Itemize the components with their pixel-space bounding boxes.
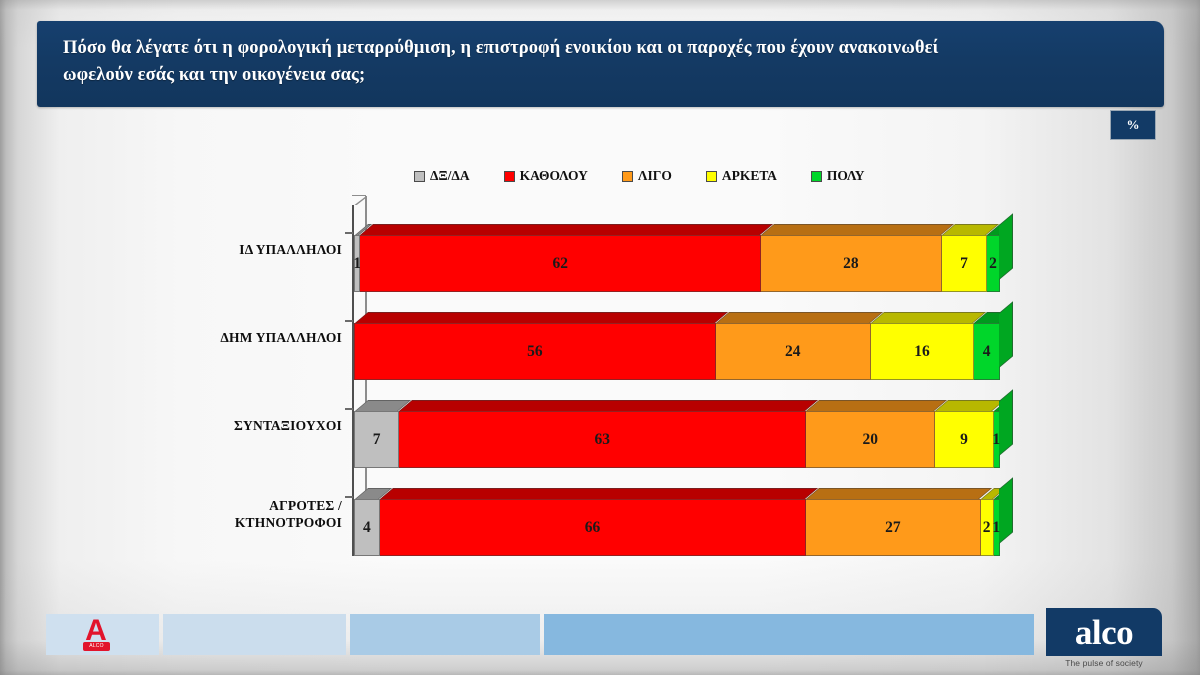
alco-a-mark-icon: A ALCO (78, 618, 114, 652)
bar-segment-1-2[interactable]: 24 (716, 323, 871, 380)
bar-segment-0-1[interactable]: 62 (360, 235, 761, 292)
bar-segment-1-4[interactable]: 4 (974, 323, 1000, 380)
bar-segment-topface (360, 224, 773, 235)
bar-segment-sideface (999, 301, 1013, 368)
legend-swatch-icon (811, 171, 822, 182)
footer: A ALCO (0, 608, 1200, 675)
title-banner: Πόσο θα λέγατε ότι η φορολογική μεταρρύθ… (37, 21, 1164, 107)
bar-segment-3-4[interactable]: 1 (994, 499, 1000, 556)
legend-item-3[interactable]: ΑΡΚΕΤΑ (706, 168, 777, 184)
axis-depth-edge-icon (352, 195, 366, 205)
bar-value-label: 1 (992, 431, 1000, 449)
alco-tagline: The pulse of society (1046, 658, 1162, 668)
category-label-2: ΣΥΝΤΑΞΙΟΥΧΟΙ (112, 418, 342, 435)
category-label-3: ΑΓΡΟΤΕΣ /ΚΤΗΝΟΤΡΟΦΟΙ (112, 498, 342, 532)
legend-item-4[interactable]: ΠΟΛΥ (811, 168, 865, 184)
bar-segment-0-2[interactable]: 28 (761, 235, 942, 292)
bar-value-label: 7 (960, 255, 968, 273)
legend-label: ΔΞ/ΔΑ (430, 168, 470, 184)
category-label-1: ΔΗΜ ΥΠΑΛΛΗΛΟΙ (112, 330, 342, 347)
bar-value-label: 63 (594, 431, 610, 449)
legend-swatch-icon (622, 171, 633, 182)
bar-segment-topface (380, 488, 818, 499)
bar-segment-2-2[interactable]: 20 (806, 411, 935, 468)
percent-unit-badge: % (1110, 110, 1156, 140)
bar-value-label: 62 (552, 255, 568, 273)
legend-label: ΚΑΘΟΛΟΥ (520, 168, 588, 184)
axis-tick-3 (345, 496, 353, 498)
bar-segment-topface (355, 312, 728, 323)
bar-row-1[interactable]: 5624164 (354, 312, 1000, 380)
legend-swatch-icon (414, 171, 425, 182)
axis-tick-1 (345, 320, 353, 322)
bar-segment-topface (761, 224, 954, 235)
bar-segment-sideface (999, 213, 1013, 280)
bar-value-label: 66 (585, 519, 601, 537)
bar-segment-2-3[interactable]: 9 (935, 411, 993, 468)
bar-segment-sideface (999, 389, 1013, 456)
a-logo-glyph: A (78, 618, 114, 643)
legend-swatch-icon (706, 171, 717, 182)
bar-value-label: 56 (527, 343, 543, 361)
alco-wordmark: alco (1075, 615, 1133, 650)
page-title-line1: Πόσο θα λέγατε ότι η φορολογική μεταρρύθ… (63, 35, 1142, 62)
bar-row-3[interactable]: 4662721 (354, 488, 1000, 556)
bar-value-label: 7 (373, 431, 381, 449)
bar-segment-3-2[interactable]: 27 (806, 499, 980, 556)
legend-label: ΠΟΛΥ (827, 168, 865, 184)
category-axis-labels: ΙΔ ΥΠΑΛΛΗΛΟΙΔΗΜ ΥΠΑΛΛΗΛΟΙΣΥΝΤΑΞΙΟΥΧΟΙΑΓΡ… (110, 196, 342, 561)
bar-segment-2-0[interactable]: 7 (354, 411, 399, 468)
bar-segment-2-4[interactable]: 1 (994, 411, 1000, 468)
category-label-0: ΙΔ ΥΠΑΛΛΗΛΟΙ (112, 242, 342, 259)
legend-swatch-icon (504, 171, 515, 182)
a-logo-tag: ALCO (83, 642, 110, 651)
bar-value-label: 2 (983, 519, 991, 537)
bar-value-label: 16 (914, 343, 930, 361)
bar-segment-3-0[interactable]: 4 (354, 499, 380, 556)
bar-segment-topface (716, 312, 883, 323)
footer-bar-4 (544, 614, 1034, 655)
footer-bar-3 (350, 614, 540, 655)
bar-segment-topface (871, 312, 986, 323)
bar-value-label: 20 (863, 431, 879, 449)
bar-segment-topface (399, 400, 818, 411)
bar-segment-2-1[interactable]: 63 (399, 411, 806, 468)
bar-value-label: 2 (989, 255, 997, 273)
alco-logo: alco (1046, 608, 1162, 656)
bar-value-label: 1 (992, 519, 1000, 537)
legend-item-1[interactable]: ΚΑΘΟΛΟΥ (504, 168, 588, 184)
footer-bar-2 (163, 614, 346, 655)
legend-label: ΑΡΚΕΤΑ (722, 168, 777, 184)
axis-tick-0 (345, 232, 353, 234)
bar-value-label: 4 (983, 343, 991, 361)
bar-segment-0-3[interactable]: 7 (942, 235, 987, 292)
bar-segment-0-4[interactable]: 2 (987, 235, 1000, 292)
bar-segment-sideface (999, 477, 1013, 544)
bar-value-label: 28 (843, 255, 859, 273)
bar-row-0[interactable]: 1622872 (354, 224, 1000, 292)
bar-segment-1-1[interactable]: 56 (354, 323, 716, 380)
bar-row-2[interactable]: 7632091 (354, 400, 1000, 468)
axis-tick-2 (345, 408, 353, 410)
bar-value-label: 4 (363, 519, 371, 537)
legend-item-0[interactable]: ΔΞ/ΔΑ (414, 168, 470, 184)
stacked-bar-chart: 1622872562416476320914662721 (352, 196, 1012, 561)
bar-value-label: 9 (960, 431, 968, 449)
legend-item-2[interactable]: ΛΙΓΟ (622, 168, 672, 184)
bar-value-label: 27 (885, 519, 901, 537)
legend-label: ΛΙΓΟ (638, 168, 672, 184)
page-title-line2: ωφελούν εσάς και την οικογένεια σας; (63, 62, 1142, 89)
bar-segment-1-3[interactable]: 16 (871, 323, 974, 380)
bar-segment-topface (806, 488, 993, 499)
bar-value-label: 24 (785, 343, 801, 361)
bar-segment-topface (806, 400, 947, 411)
bar-segment-3-1[interactable]: 66 (380, 499, 806, 556)
chart-legend: ΔΞ/ΔΑΚΑΘΟΛΟΥΛΙΓΟΑΡΚΕΤΑΠΟΛΥ (414, 165, 964, 187)
